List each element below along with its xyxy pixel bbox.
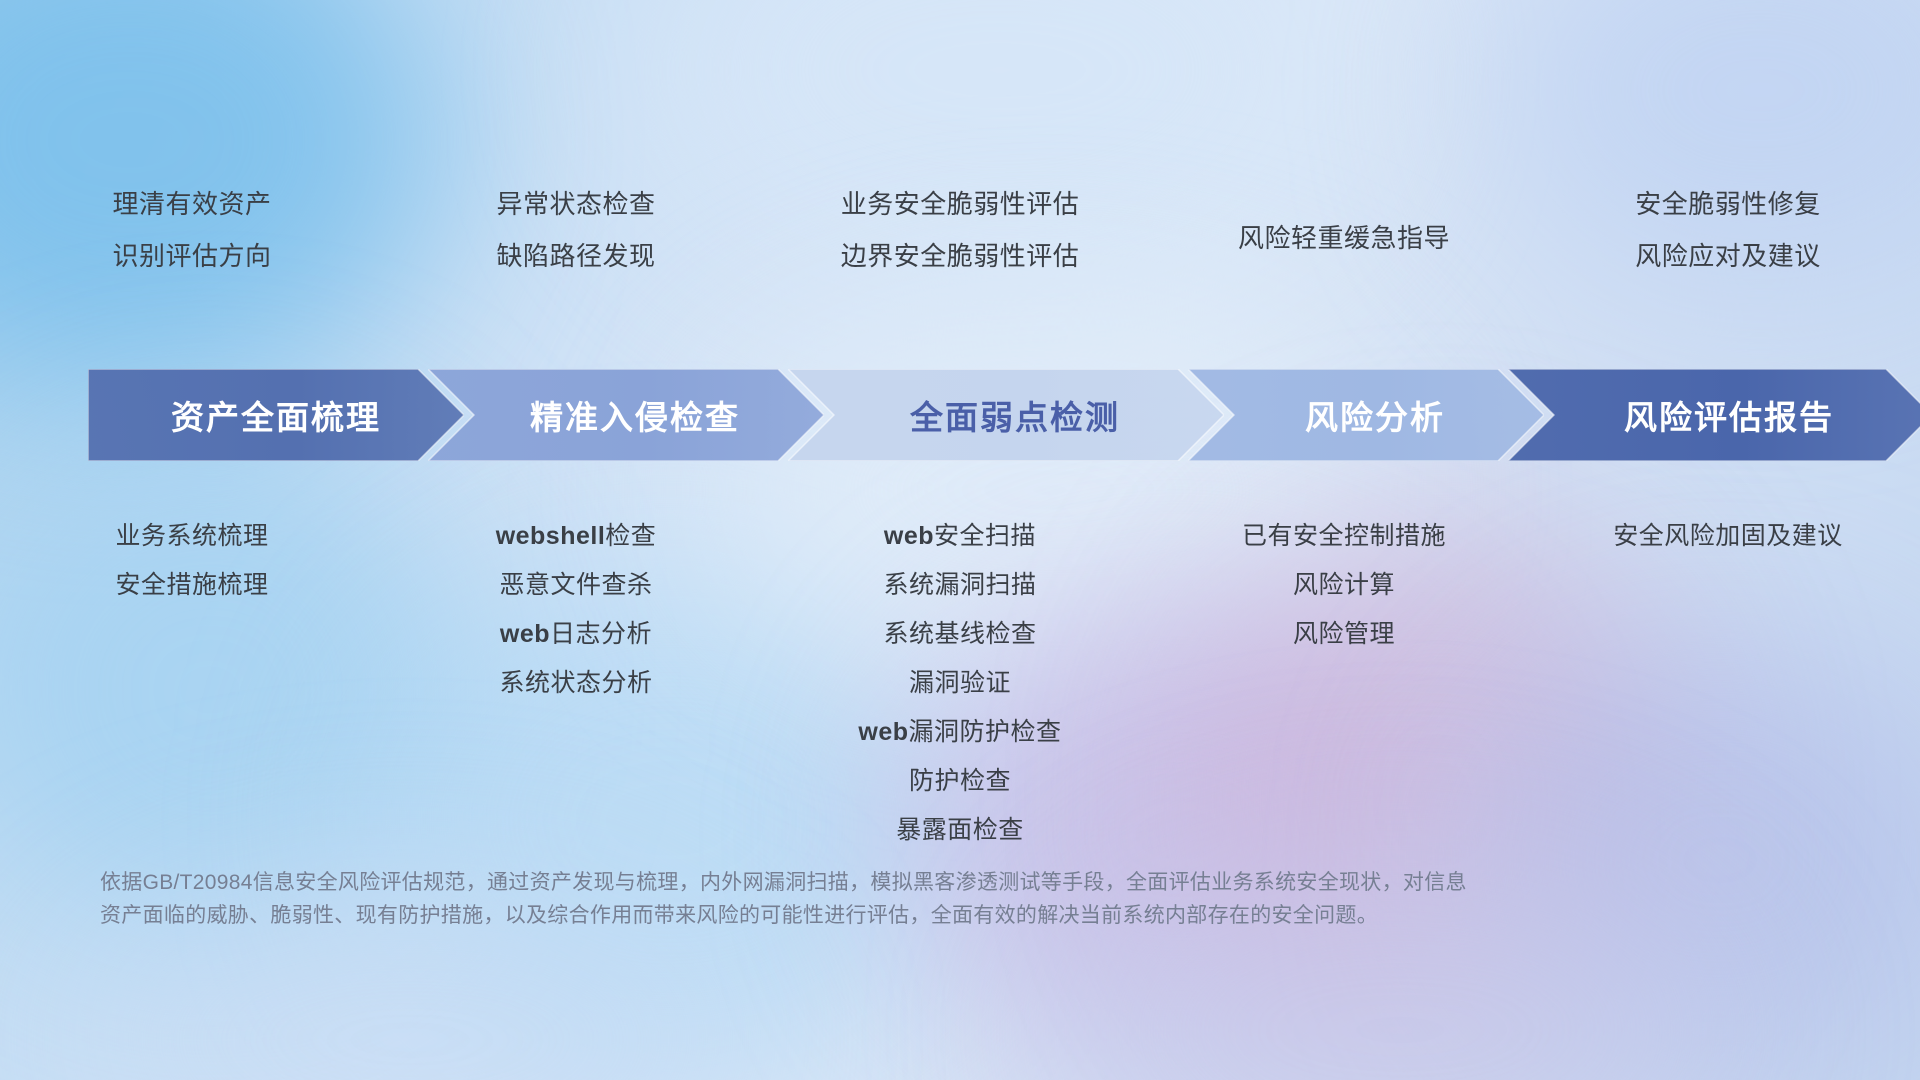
top-note: 异常状态检查 — [496, 178, 655, 230]
footer-description: 依据GB/T20984信息安全风险评估规范，通过资产发现与梳理，内外网漏洞扫描，… — [100, 866, 1740, 932]
bottom-items-weakness-detection: web安全扫描系统漏洞扫描系统基线检查漏洞验证web漏洞防护检查防护检查暴露面检… — [768, 512, 1152, 855]
bottom-items-intrusion-check: webshell检查恶意文件查杀web日志分析系统状态分析 — [384, 512, 768, 708]
top-note: 识别评估方向 — [112, 230, 271, 282]
footer-line-2: 资产面临的威胁、脆弱性、现有防护措施，以及综合作用而带来风险的可能性进行评估，全… — [100, 899, 1740, 932]
bottom-item: 风险计算 — [1293, 561, 1395, 610]
top-note: 安全脆弱性修复 — [1635, 178, 1821, 230]
top-notes-risk-analysis: 风险轻重缓急指导 — [1152, 178, 1536, 298]
bottom-item: 业务系统梳理 — [115, 512, 268, 561]
bottom-item: 风险管理 — [1293, 610, 1395, 659]
slide-canvas: 理清有效资产识别评估方向异常状态检查缺陷路径发现业务安全脆弱性评估边界安全脆弱性… — [0, 0, 1920, 1080]
top-note: 业务安全脆弱性评估 — [841, 178, 1080, 230]
chevron-label: 资产全面梳理 — [171, 391, 381, 439]
footer-line-1: 依据GB/T20984信息安全风险评估规范，通过资产发现与梳理，内外网漏洞扫描，… — [100, 866, 1740, 899]
top-note: 边界安全脆弱性评估 — [841, 230, 1080, 282]
chevron-risk-report[interactable]: 风险评估报告 — [1508, 369, 1920, 461]
top-note: 缺陷路径发现 — [496, 230, 655, 282]
bottom-item: 防护检查 — [909, 757, 1011, 806]
bottom-item: web安全扫描 — [884, 512, 1036, 561]
bottom-item: 暴露面检查 — [896, 806, 1024, 855]
bottom-items-asset-inventory: 业务系统梳理安全措施梳理 — [0, 512, 384, 610]
process-chevron-band: 资产全面梳理精准入侵检查全面弱点检测风险分析风险评估报告 — [88, 369, 1846, 461]
bottom-item: 恶意文件查杀 — [499, 561, 652, 610]
chevron-label: 全面弱点检测 — [910, 391, 1120, 439]
chevron-label: 风险分析 — [1305, 391, 1445, 439]
top-notes-intrusion-check: 异常状态检查缺陷路径发现 — [384, 178, 768, 298]
bottom-item: web漏洞防护检查 — [858, 708, 1061, 757]
top-notes-risk-report: 安全脆弱性修复风险应对及建议 — [1536, 178, 1920, 298]
top-notes-asset-inventory: 理清有效资产识别评估方向 — [0, 178, 384, 298]
chevron-risk-analysis[interactable]: 风险分析 — [1188, 369, 1544, 461]
chevron-label: 风险评估报告 — [1624, 391, 1834, 439]
bottom-items-risk-analysis: 已有安全控制措施风险计算风险管理 — [1152, 512, 1536, 659]
chevron-weakness-detection[interactable]: 全面弱点检测 — [788, 369, 1224, 461]
bottom-items-risk-report: 安全风险加固及建议 — [1536, 512, 1920, 561]
bottom-item: web日志分析 — [500, 610, 652, 659]
chevron-asset-inventory[interactable]: 资产全面梳理 — [88, 369, 464, 461]
bottom-items-row: 业务系统梳理安全措施梳理webshell检查恶意文件查杀web日志分析系统状态分… — [0, 512, 1920, 855]
top-notes-row: 理清有效资产识别评估方向异常状态检查缺陷路径发现业务安全脆弱性评估边界安全脆弱性… — [0, 178, 1920, 298]
bottom-item: 安全风险加固及建议 — [1613, 512, 1843, 561]
chevron-label: 精准入侵检查 — [530, 391, 740, 439]
bottom-item: 漏洞验证 — [909, 659, 1011, 708]
top-notes-weakness-detection: 业务安全脆弱性评估边界安全脆弱性评估 — [768, 178, 1152, 298]
top-note: 理清有效资产 — [112, 178, 271, 230]
bottom-item: 系统漏洞扫描 — [883, 561, 1036, 610]
bottom-item: 安全措施梳理 — [115, 561, 268, 610]
bottom-item: webshell检查 — [496, 512, 657, 561]
bottom-item: 已有安全控制措施 — [1242, 512, 1446, 561]
top-note: 风险轻重缓急指导 — [1238, 212, 1450, 264]
chevron-intrusion-check[interactable]: 精准入侵检查 — [428, 369, 824, 461]
top-note: 风险应对及建议 — [1635, 230, 1821, 282]
bottom-item: 系统状态分析 — [499, 659, 652, 708]
bottom-item: 系统基线检查 — [883, 610, 1036, 659]
